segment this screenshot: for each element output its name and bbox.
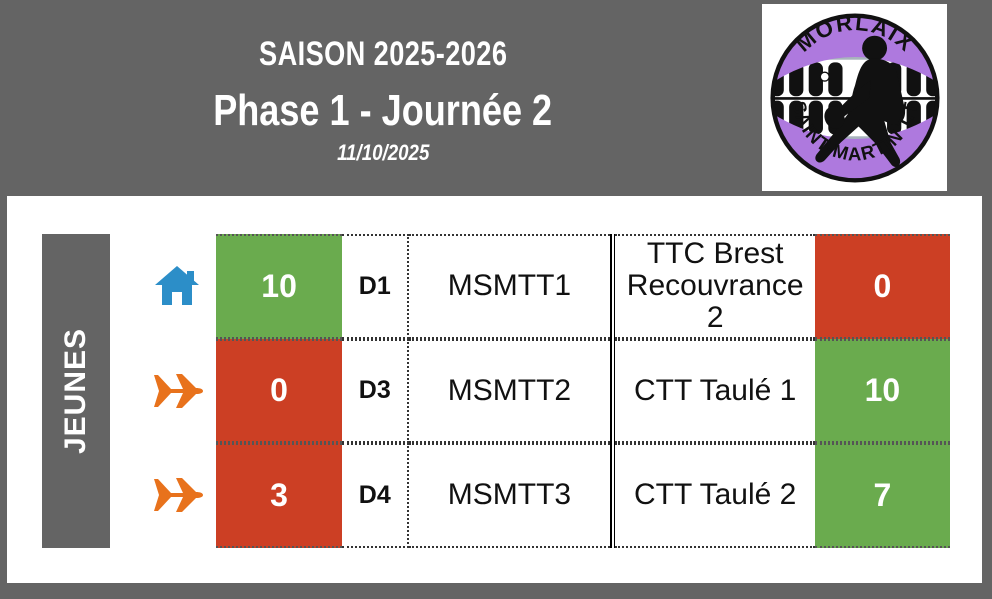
frame-right-edge xyxy=(982,0,992,599)
home-team-name: MSMTT3 xyxy=(409,443,609,548)
club-logo-emblem: MORLAIX SAINT-MARTIN T.T xyxy=(766,9,944,187)
home-icon xyxy=(153,264,201,308)
home-score: 0 xyxy=(216,339,342,444)
home-team-name: MSMTT1 xyxy=(409,234,609,339)
table-row[interactable]: 10 D1 MSMTT1 TTC Brest Recouvrance 2 0 xyxy=(138,234,950,339)
airplane-icon xyxy=(150,473,204,517)
opponent-team-name: TTC Brest Recouvrance 2 xyxy=(615,234,814,339)
results-poster: SAISON 2025-2026 Phase 1 - Journée 2 11/… xyxy=(0,0,992,599)
frame-left-edge xyxy=(0,0,7,599)
venue-cell xyxy=(138,234,216,339)
table-row[interactable]: 3 D4 MSMTT3 CTT Taulé 2 7 xyxy=(138,443,950,548)
poster-header: SAISON 2025-2026 Phase 1 - Journée 2 11/… xyxy=(0,0,992,196)
venue-cell xyxy=(138,339,216,444)
results-board: JEUNES 10 D1 MSMTT1 TTC Brest Recouvr xyxy=(7,196,982,583)
away-score: 7 xyxy=(815,443,950,548)
season-title: SAISON 2025-2026 xyxy=(259,36,507,73)
match-date: 11/10/2025 xyxy=(337,140,429,166)
club-logo: MORLAIX SAINT-MARTIN T.T xyxy=(762,4,947,191)
header-text-block: SAISON 2025-2026 Phase 1 - Journée 2 11/… xyxy=(7,0,759,196)
home-team-name: MSMTT2 xyxy=(409,339,609,444)
category-bar-jeunes: JEUNES xyxy=(42,234,110,548)
category-label: JEUNES xyxy=(59,328,93,454)
table-row[interactable]: 0 D3 MSMTT2 CTT Taulé 1 10 xyxy=(138,339,950,444)
division-label: D1 xyxy=(342,234,409,339)
home-score: 3 xyxy=(216,443,342,548)
results-grid: 10 D1 MSMTT1 TTC Brest Recouvrance 2 0 0 xyxy=(138,234,950,548)
division-label: D4 xyxy=(342,443,409,548)
opponent-team-name: CTT Taulé 1 xyxy=(615,339,814,444)
opponent-team-name: CTT Taulé 2 xyxy=(615,443,814,548)
airplane-icon xyxy=(150,369,204,413)
home-score: 10 xyxy=(216,234,342,339)
away-score: 10 xyxy=(815,339,950,444)
frame-bottom-edge xyxy=(0,583,992,599)
venue-cell xyxy=(138,443,216,548)
phase-title: Phase 1 - Journée 2 xyxy=(214,88,553,134)
away-score: 0 xyxy=(815,234,950,339)
division-label: D3 xyxy=(342,339,409,444)
